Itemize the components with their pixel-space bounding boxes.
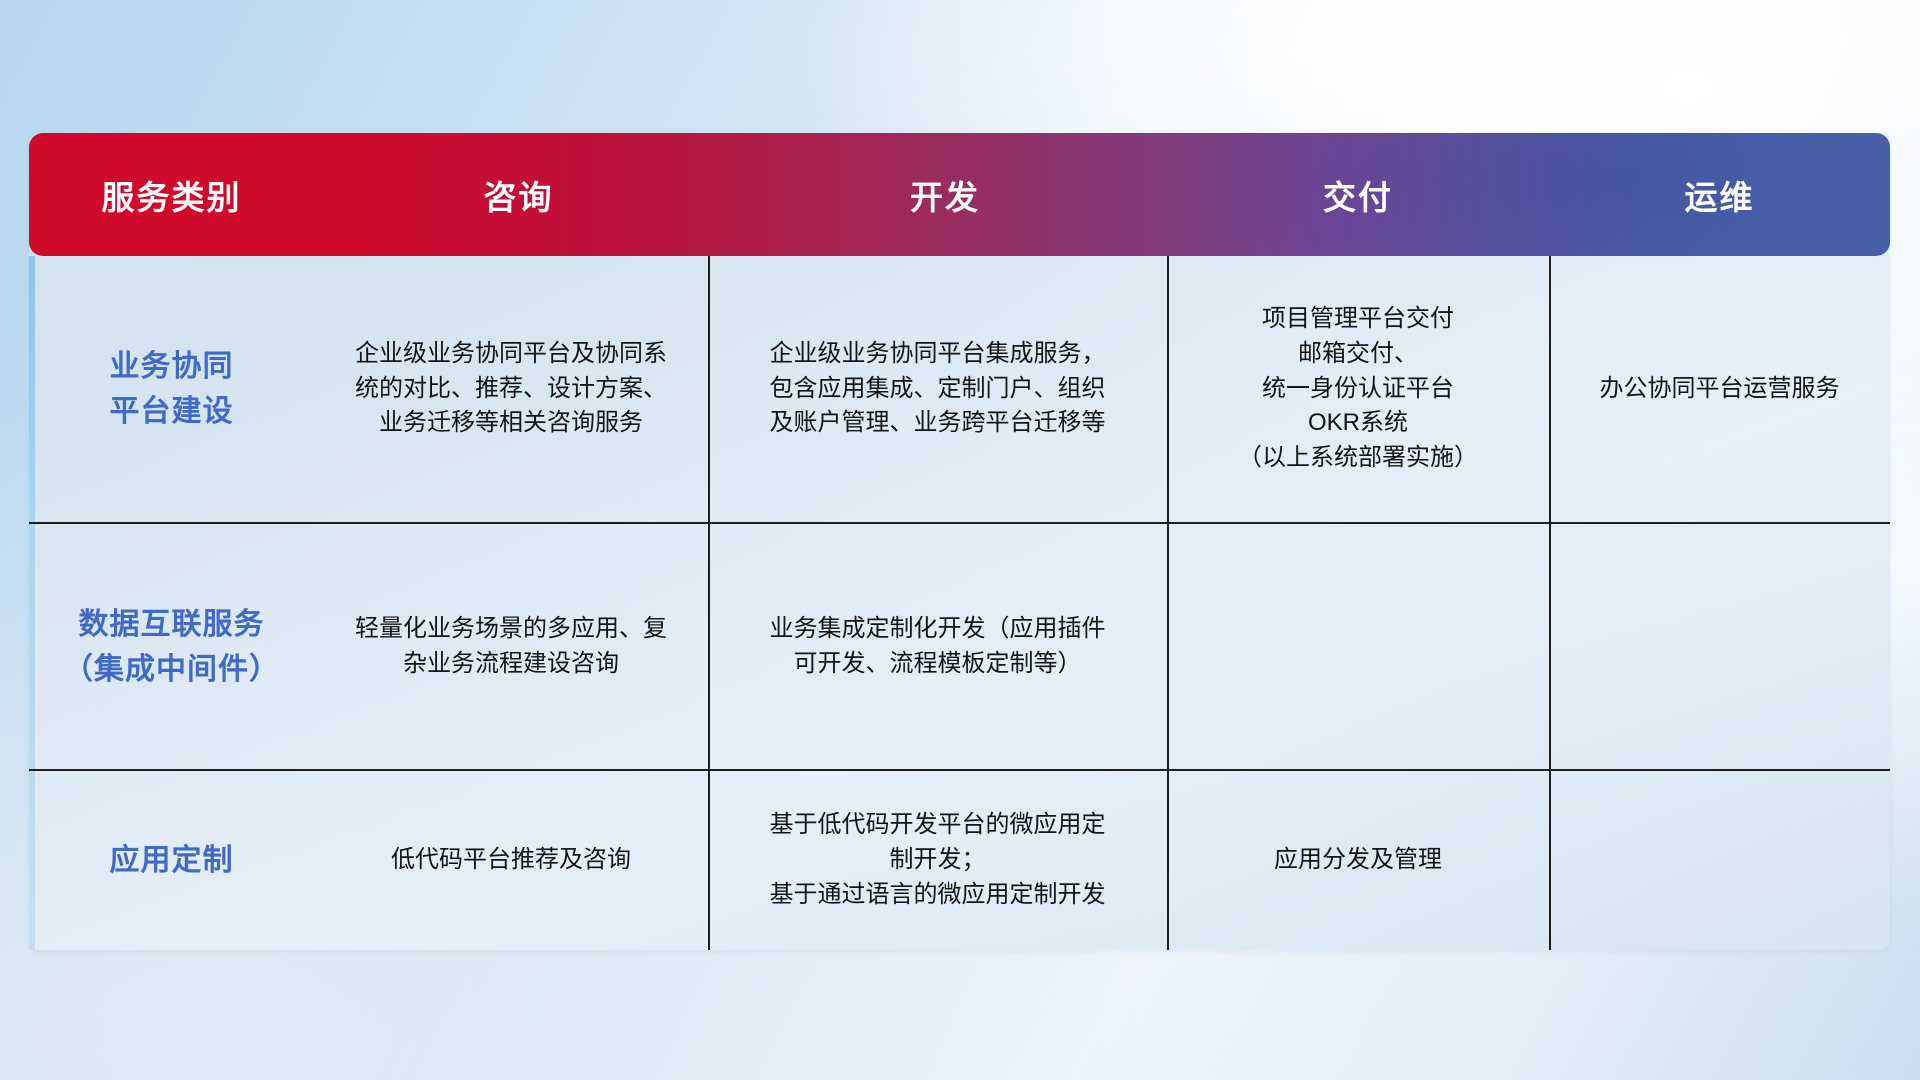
service-matrix-panel: 服务类别 咨询 开发 交付 运维 业务协同 平台建设 企业级业务协同平台及协同系… bbox=[29, 133, 1890, 950]
cell-r2-consulting: 轻量化业务场景的多应用、复 杂业务流程建设咨询 bbox=[314, 524, 708, 769]
cell-r3-operations bbox=[1549, 771, 1890, 950]
cell-r1-operations: 办公协同平台运营服务 bbox=[1549, 256, 1890, 522]
table-row: 业务协同 平台建设 企业级业务协同平台及协同系 统的对比、推荐、设计方案、 业务… bbox=[29, 256, 1890, 522]
row-label-app-customization: 应用定制 bbox=[29, 771, 314, 950]
cell-r1-consulting: 企业级业务协同平台及协同系 统的对比、推荐、设计方案、 业务迁移等相关咨询服务 bbox=[314, 256, 708, 522]
cell-r3-delivery: 应用分发及管理 bbox=[1167, 771, 1549, 950]
cell-r2-delivery bbox=[1167, 524, 1549, 769]
table-header-row: 服务类别 咨询 开发 交付 运维 bbox=[29, 133, 1890, 256]
table-row: 应用定制 低代码平台推荐及咨询 基于低代码开发平台的微应用定 制开发； 基于通过… bbox=[29, 771, 1890, 950]
row-label-business-collaboration: 业务协同 平台建设 bbox=[29, 256, 314, 522]
cell-r2-operations bbox=[1549, 524, 1890, 769]
column-header-consulting: 咨询 bbox=[314, 171, 723, 219]
cell-r1-development: 企业级业务协同平台集成服务， 包含应用集成、定制门户、组织 及账户管理、业务跨平… bbox=[708, 256, 1167, 522]
cell-r3-consulting: 低代码平台推荐及咨询 bbox=[314, 771, 708, 950]
table-body: 业务协同 平台建设 企业级业务协同平台及协同系 统的对比、推荐、设计方案、 业务… bbox=[29, 256, 1890, 950]
column-header-category: 服务类别 bbox=[29, 171, 314, 219]
table-row: 数据互联服务 （集成中间件） 轻量化业务场景的多应用、复 杂业务流程建设咨询 业… bbox=[29, 524, 1890, 769]
column-header-operations: 运维 bbox=[1549, 171, 1890, 219]
cell-r2-development: 业务集成定制化开发（应用插件 可开发、流程模板定制等） bbox=[708, 524, 1167, 769]
cell-r1-delivery: 项目管理平台交付 邮箱交付、 统一身份认证平台 OKR系统 （以上系统部署实施） bbox=[1167, 256, 1549, 522]
column-header-development: 开发 bbox=[723, 171, 1167, 219]
row-label-data-interconnect: 数据互联服务 （集成中间件） bbox=[29, 524, 314, 769]
column-header-delivery: 交付 bbox=[1167, 171, 1549, 219]
cell-r3-development: 基于低代码开发平台的微应用定 制开发； 基于通过语言的微应用定制开发 bbox=[708, 771, 1167, 950]
